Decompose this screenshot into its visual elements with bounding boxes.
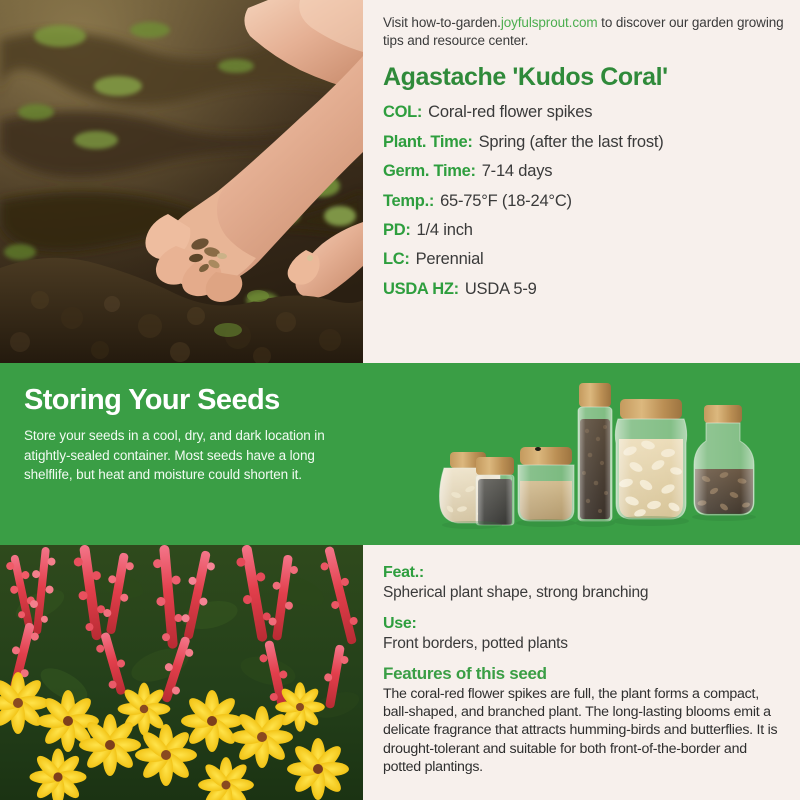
spec-row-lc: LC: Perennial [383, 250, 784, 269]
storing-seeds-band: Storing Your Seeds Store your seeds in a… [0, 363, 800, 545]
spec-row-col: COL: Coral-red flower spikes [383, 103, 784, 122]
storing-seeds-body: Store your seeds in a cool, dry, and dar… [24, 426, 354, 483]
features-description: The coral-red flower spikes are full, th… [383, 685, 786, 776]
spec-label: COL: [383, 103, 422, 122]
visit-website-line: Visit how-to-garden.joyfulsprout.com to … [383, 14, 784, 50]
plant-info-panel: Visit how-to-garden.joyfulsprout.com to … [363, 0, 800, 363]
spec-label: Temp.: [383, 192, 434, 211]
spec-label: Plant. Time: [383, 133, 473, 152]
spec-label: PD: [383, 221, 411, 240]
spec-value: Spring (after the last frost) [479, 133, 664, 152]
use-value: Front borders, potted plants [383, 634, 786, 653]
features-heading: Features of this seed [383, 664, 786, 684]
plant-title: Agastache 'Kudos Coral' [383, 64, 784, 92]
spec-value: Perennial [416, 250, 484, 269]
feat-value: Spherical plant shape, strong branching [383, 583, 786, 602]
agastache-flowers-photo [0, 545, 363, 800]
brand-domain-link[interactable]: joyfulsprout.com [501, 15, 598, 30]
plant-spec-list: COL: Coral-red flower spikes Plant. Time… [383, 103, 784, 299]
spec-row-temp: Temp.: 65-75°F (18-24°C) [383, 192, 784, 211]
use-block: Use: Front borders, potted plants [383, 614, 786, 654]
top-section: Visit how-to-garden.joyfulsprout.com to … [0, 0, 800, 363]
spec-value: Coral-red flower spikes [428, 103, 592, 122]
spec-row-usda-hz: USDA HZ: USDA 5-9 [383, 280, 784, 299]
visit-text-prefix: Visit how-to-garden. [383, 15, 501, 30]
spec-value: 1/4 inch [417, 221, 473, 240]
spec-label: Germ. Time: [383, 162, 476, 181]
soil-planting-photo [0, 0, 363, 363]
spec-value: USDA 5-9 [465, 280, 537, 299]
seed-jars-photo [424, 369, 794, 545]
storing-seeds-text: Storing Your Seeds Store your seeds in a… [24, 385, 354, 484]
storing-seeds-title: Storing Your Seeds [24, 385, 354, 415]
features-panel: Feat.: Spherical plant shape, strong bra… [363, 545, 800, 800]
feat-block: Feat.: Spherical plant shape, strong bra… [383, 563, 786, 603]
spec-row-pd: PD: 1/4 inch [383, 221, 784, 240]
spec-value: 65-75°F (18-24°C) [440, 192, 572, 211]
spec-value: 7-14 days [482, 162, 553, 181]
spec-row-plant-time: Plant. Time: Spring (after the last fros… [383, 133, 784, 152]
spec-label: USDA HZ: [383, 280, 459, 299]
spec-label: LC: [383, 250, 410, 269]
use-label: Use: [383, 614, 786, 633]
bottom-section: Feat.: Spherical plant shape, strong bra… [0, 545, 800, 800]
features-block: Features of this seed The coral-red flow… [383, 664, 786, 776]
seed-packet: Visit how-to-garden.joyfulsprout.com to … [0, 0, 800, 800]
spec-row-germ-time: Germ. Time: 7-14 days [383, 162, 784, 181]
feat-label: Feat.: [383, 563, 786, 582]
